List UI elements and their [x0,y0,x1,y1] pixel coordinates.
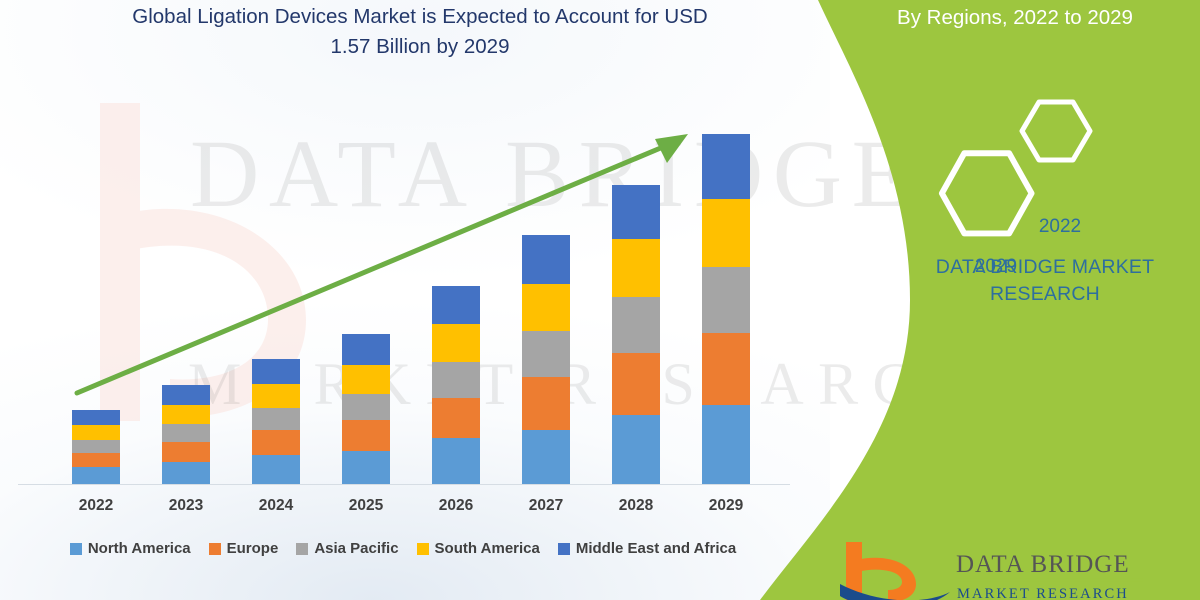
bar-segment-europe [72,453,120,467]
bar-segment-europe [252,430,300,455]
bar-segment-south-america [432,324,480,362]
bar-segment-north-america [72,467,120,484]
bar-2023 [162,385,210,484]
bar-segment-europe [162,442,210,462]
legend-swatch-icon [558,543,570,555]
bar-segment-middle-east-and-africa [702,134,750,199]
x-label-2022: 2022 [51,497,141,515]
chart-legend: North AmericaEuropeAsia PacificSouth Ame… [0,540,806,557]
bar-2028 [612,185,660,484]
page-title: Global Ligation Devices Market is Expect… [120,2,720,62]
legend-swatch-icon [70,543,82,555]
x-label-2028: 2028 [591,497,681,515]
bar-segment-north-america [702,405,750,484]
bar-segment-asia-pacific [342,394,390,420]
bar-segment-asia-pacific [612,297,660,353]
legend-label: Middle East and Africa [576,540,736,557]
legend-label: Asia Pacific [314,540,398,557]
hexagon-2029-icon [942,153,1032,233]
brand-name-line1: DATA BRIDGE MARKET [885,254,1200,281]
brand-name: DATA BRIDGE MARKET RESEARCH [885,254,1200,308]
dbmr-logo-title: DATA BRIDGE [956,551,1130,578]
bar-segment-north-america [432,438,480,484]
legend-item-europe[interactable]: Europe [209,540,279,557]
bar-2025 [342,334,390,484]
bar-segment-north-america [522,430,570,484]
brand-name-line2: RESEARCH [885,281,1200,308]
bar-segment-south-america [342,365,390,394]
x-label-2026: 2026 [411,497,501,515]
legend-item-asia-pacific[interactable]: Asia Pacific [296,540,398,557]
hexagon-2022-icon [1022,102,1090,160]
plot-area [40,110,790,485]
bar-segment-south-america [252,384,300,408]
legend-label: Europe [227,540,279,557]
infographic-canvas: DATA BRIDGE MARKET RESEARCH 202220232024… [0,0,1200,600]
x-axis-line [18,484,790,485]
bar-segment-middle-east-and-africa [612,185,660,239]
bar-segment-asia-pacific [702,267,750,333]
bar-segment-middle-east-and-africa [432,286,480,324]
legend-item-north-america[interactable]: North America [70,540,191,557]
bar-segment-europe [432,398,480,438]
bar-segment-south-america [522,284,570,331]
bar-segment-asia-pacific [162,424,210,442]
dbmr-logo-subtitle: MARKET RESEARCH [957,586,1129,600]
legend-item-middle-east-and-africa[interactable]: Middle East and Africa [558,540,736,557]
bar-2026 [432,286,480,484]
bar-segment-middle-east-and-africa [72,410,120,425]
bar-segment-europe [522,377,570,430]
panel-title: By Regions, 2022 to 2029 [840,3,1190,32]
bar-segment-north-america [612,415,660,484]
x-label-2023: 2023 [141,497,231,515]
bar-segment-middle-east-and-africa [252,359,300,384]
bar-segment-europe [702,333,750,405]
bar-segment-asia-pacific [72,440,120,453]
x-label-2027: 2027 [501,497,591,515]
x-label-2029: 2029 [681,497,771,515]
bar-2027 [522,235,570,484]
bar-2022 [72,410,120,484]
bar-segment-europe [342,420,390,451]
x-label-2025: 2025 [321,497,411,515]
bar-segment-north-america [252,455,300,484]
bar-segment-south-america [702,199,750,267]
bar-segment-south-america [72,425,120,440]
bar-segment-south-america [162,405,210,424]
x-axis-labels: 20222023202420252026202720282029 [0,497,800,523]
bar-segment-asia-pacific [432,362,480,398]
legend-label: South America [435,540,540,557]
bar-2029 [702,134,750,484]
bar-segment-south-america [612,239,660,297]
legend-swatch-icon [209,543,221,555]
legend-swatch-icon [417,543,429,555]
bar-segment-north-america [342,451,390,484]
hexagon-group: 2022 2029 [925,88,1115,238]
bar-segment-middle-east-and-africa [342,334,390,365]
hexagon-label-2022: 2022 [1025,216,1095,238]
bar-segment-asia-pacific [522,331,570,377]
bar-segment-middle-east-and-africa [522,235,570,284]
legend-label: North America [88,540,191,557]
bar-segment-north-america [162,462,210,484]
legend-item-south-america[interactable]: South America [417,540,540,557]
bar-segment-middle-east-and-africa [162,385,210,405]
bar-segment-europe [612,353,660,415]
stacked-bar-chart: 20222023202420252026202720282029 [0,0,820,600]
x-label-2024: 2024 [231,497,321,515]
legend-swatch-icon [296,543,308,555]
dbmr-logo: DATA BRIDGE MARKET RESEARCH [838,540,1198,600]
bar-segment-asia-pacific [252,408,300,430]
bar-2024 [252,359,300,484]
